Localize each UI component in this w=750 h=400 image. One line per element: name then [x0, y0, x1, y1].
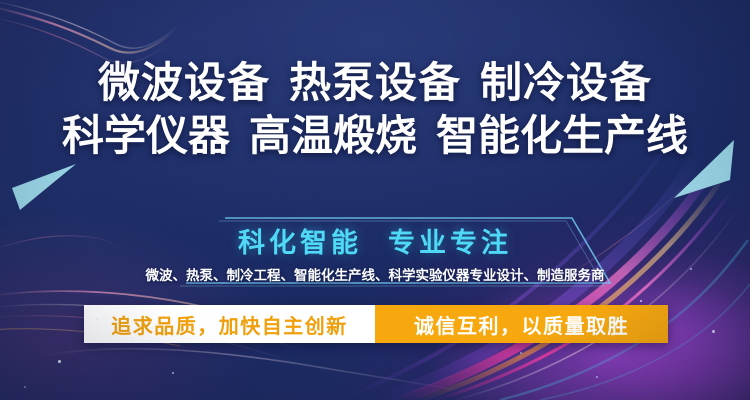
slogan-bar-left: 追求品质，加快自主创新 — [84, 305, 375, 343]
headline-line1-part2: 热泵设备 — [289, 59, 461, 106]
headline-line1-part1: 微波设备 — [98, 59, 270, 106]
headline-line-1: 微波设备热泵设备制冷设备 — [0, 62, 750, 104]
sparkle — [520, 352, 522, 354]
headline-line2-part1: 科学仪器 — [62, 112, 230, 159]
sparkle — [132, 340, 134, 342]
cyan-slogan: 科化智能专业专注 — [0, 221, 750, 260]
promo-banner: 微波设备热泵设备制冷设备 科学仪器高温煅烧智能化生产线 科化智能专业专注 微波、… — [0, 0, 750, 400]
slogan-part-2: 专业专注 — [388, 228, 512, 258]
left-triangle-arrow-icon — [8, 154, 78, 210]
slogan-bars: 追求品质，加快自主创新 诚信互利，以质量取胜 — [84, 305, 668, 343]
sparkle — [712, 330, 715, 333]
sparkle — [596, 376, 598, 378]
subline: 微波、热泵、制冷工程、智能化生产线、科学实验仪器专业设计、制造服务商 — [0, 264, 750, 284]
sparkle — [640, 300, 642, 302]
headline: 微波设备热泵设备制冷设备 科学仪器高温煅烧智能化生产线 — [0, 62, 750, 157]
sparkle — [172, 372, 174, 374]
headline-line2-part2: 高温煅烧 — [249, 112, 417, 159]
headline-line2-part3: 智能化生产线 — [436, 112, 688, 159]
sparkle — [690, 268, 692, 270]
slogan-bar-right: 诚信互利，以质量取胜 — [375, 305, 668, 343]
headline-line-2: 科学仪器高温煅烧智能化生产线 — [0, 115, 750, 157]
sparkle — [24, 386, 26, 388]
headline-line1-part3: 制冷设备 — [480, 59, 652, 106]
sparkle — [58, 360, 61, 363]
slogan-part-1: 科化智能 — [238, 228, 362, 258]
sparkle — [96, 318, 98, 320]
